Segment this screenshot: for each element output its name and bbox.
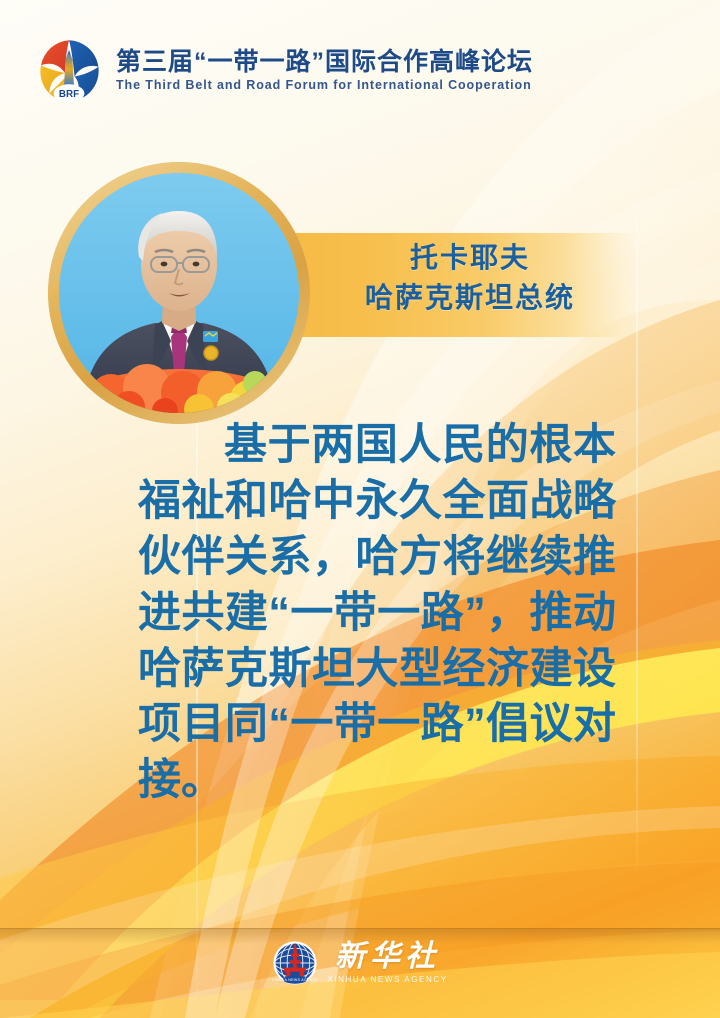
speaker-identity: 托卡耶夫 哈萨克斯坦总统	[320, 238, 620, 318]
xinhua-emblem-icon: XINHUA NEWS AGENCY	[272, 940, 318, 986]
quote-text: 基于两国人民的根本福祉和哈中永久全面战略伙伴关系，哈方将继续推进共建“一带一路”…	[138, 418, 616, 809]
speaker-name: 托卡耶夫	[320, 238, 620, 278]
forum-header: BRF 第三届“一带一路”国际合作高峰论坛 The Third Belt and…	[34, 36, 533, 106]
floor-line	[0, 928, 720, 929]
xinhua-name-en: XINHUA NEWS AGENCY	[327, 976, 447, 984]
forum-title-group: 第三届“一带一路”国际合作高峰论坛 The Third Belt and Roa…	[116, 49, 533, 92]
speaker-portrait	[48, 162, 310, 424]
xinhua-name-cn: 新华社	[335, 942, 440, 972]
poster-canvas: BRF 第三届“一带一路”国际合作高峰论坛 The Third Belt and…	[0, 0, 720, 1018]
xinhua-footer: XINHUA NEWS AGENCY 新华社 XINHUA NEWS AGENC…	[0, 940, 720, 986]
forum-title-en: The Third Belt and Road Forum for Intern…	[116, 79, 533, 93]
xinhua-wordmark: 新华社 XINHUA NEWS AGENCY	[327, 942, 447, 984]
xinhua-badge-text: XINHUA NEWS AGENCY	[272, 978, 318, 982]
portrait-illustration	[59, 173, 299, 413]
brf-wordmark: BRF	[59, 89, 79, 100]
speaker-title: 哈萨克斯坦总统	[320, 278, 620, 318]
forum-title-cn: 第三届“一带一路”国际合作高峰论坛	[116, 49, 533, 77]
brf-logo-icon: BRF	[34, 36, 104, 106]
portrait-photo	[59, 173, 299, 413]
